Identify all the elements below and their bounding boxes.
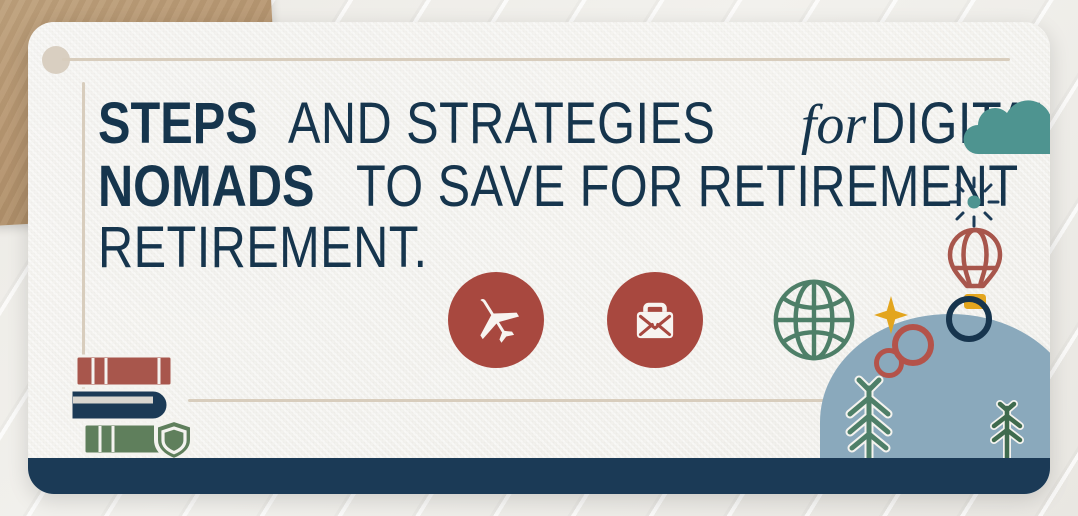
- stacked-books-with-shield-icon: [66, 354, 206, 458]
- briefcase-envelope-badge[interactable]: [607, 272, 703, 368]
- fern-tree-icon: [838, 368, 900, 464]
- frame-rule-left: [82, 82, 85, 392]
- airplane-badge[interactable]: [448, 272, 544, 368]
- heading-line-1: STEPS AND STRATEGIES for DIGITAL: [98, 96, 798, 153]
- ring-navy-icon: [946, 296, 992, 342]
- heading-steps: STEPS: [98, 96, 258, 152]
- heading-for: for: [797, 99, 870, 153]
- cloud-icon: [934, 88, 1050, 160]
- heading-line-3: RETIREMENT.: [98, 220, 798, 276]
- heading-to-save-for-retirement: TO SAVE FOR RETIREMENT: [356, 159, 1019, 215]
- poster-heading: STEPS AND STRATEGIES for DIGITAL NOMADS …: [98, 96, 798, 276]
- icon-row: [448, 272, 862, 368]
- frame-rule-top: [62, 58, 1010, 61]
- heading-retirement: RETIREMENT.: [98, 220, 427, 276]
- sun-icon: [946, 174, 1002, 230]
- shield-icon: [156, 420, 192, 458]
- footer-bar: [28, 458, 1050, 494]
- small-tree-icon: [984, 398, 1030, 460]
- airplane-icon: [467, 291, 525, 349]
- heading-nomads: NOMADS: [98, 159, 315, 215]
- briefcase-envelope-icon: [626, 291, 684, 349]
- heading-and-strategies: AND STRATEGIES: [288, 96, 715, 152]
- heading-line-2: NOMADS TO SAVE FOR RETIREMENT: [98, 159, 798, 215]
- poster-card: STEPS AND STRATEGIES for DIGITAL NOMADS …: [28, 22, 1050, 494]
